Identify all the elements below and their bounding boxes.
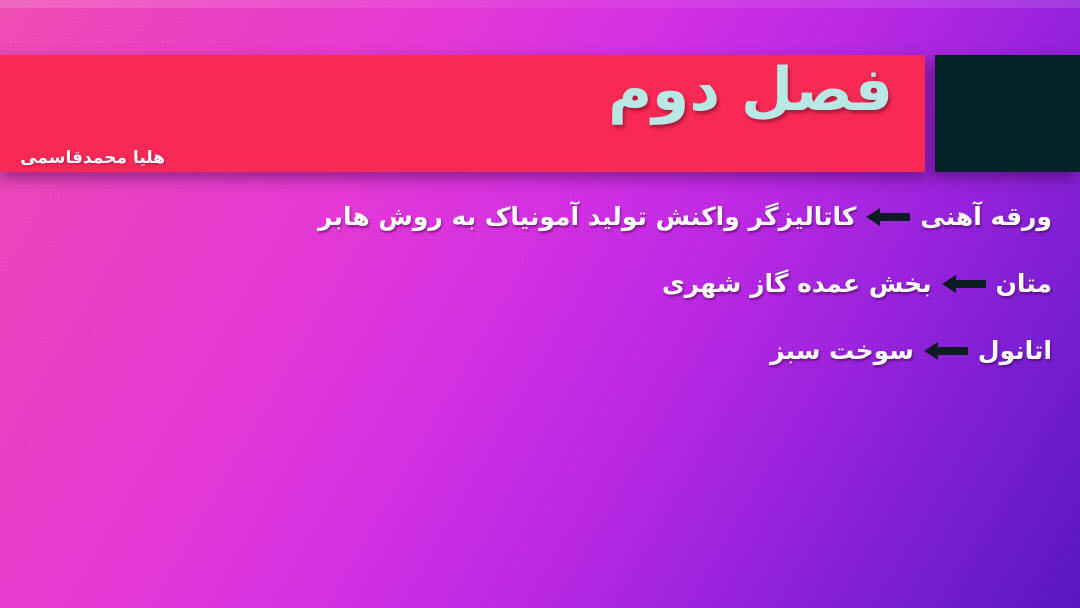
arrow-left-icon xyxy=(942,275,986,293)
page-title: فصل دوم xyxy=(608,59,893,122)
header-accent-panel xyxy=(935,55,1080,172)
arrow-left-icon xyxy=(866,208,910,226)
content-list: ورقه آهنی کاتالیزگر واکنش تولید آمونیاک … xyxy=(28,202,1052,403)
line-term: متان xyxy=(996,269,1052,298)
arrow-left-icon xyxy=(924,342,968,360)
author-name: هلیا محمدقاسمی xyxy=(20,148,165,168)
list-item: اتانول سوخت سبز xyxy=(28,336,1052,365)
list-item: ورقه آهنی کاتالیزگر واکنش تولید آمونیاک … xyxy=(28,202,1052,231)
line-term: اتانول xyxy=(978,336,1052,365)
line-description: سوخت سبز xyxy=(770,336,914,365)
line-description: بخش عمده گاز شهری xyxy=(662,269,932,298)
title-banner: فصل دوم هلیا محمدقاسمی xyxy=(0,55,925,172)
presentation-slide: فصل دوم هلیا محمدقاسمی ورقه آهنی کاتالیز… xyxy=(0,0,1080,608)
line-term: ورقه آهنی xyxy=(920,202,1052,231)
list-item: متان بخش عمده گاز شهری xyxy=(28,269,1052,298)
line-description: کاتالیزگر واکنش تولید آمونیاک به روش هاب… xyxy=(318,202,856,231)
